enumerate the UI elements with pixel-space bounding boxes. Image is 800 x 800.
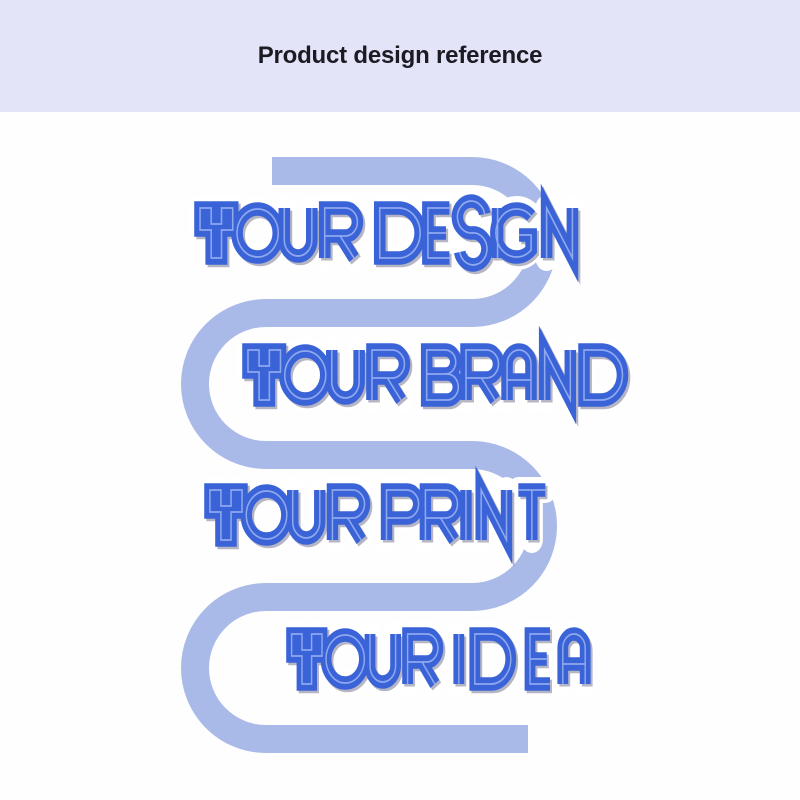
artboard: YOUR DESIGN bbox=[0, 112, 800, 800]
headline-line-3: YOUR PRINT bbox=[206, 482, 540, 550]
headline-text-layer: YOUR DESIGN bbox=[0, 112, 800, 800]
headline-line-1: YOUR DESIGN bbox=[196, 200, 574, 268]
poster-canvas: Product design reference YOUR DESIGN bbox=[0, 0, 800, 800]
headline-line-4: YOUR IDEA bbox=[288, 626, 592, 694]
page-title: Product design reference bbox=[258, 44, 543, 68]
header-band: Product design reference bbox=[0, 0, 800, 112]
headline-line-2: YOUR BRAND bbox=[244, 342, 612, 410]
